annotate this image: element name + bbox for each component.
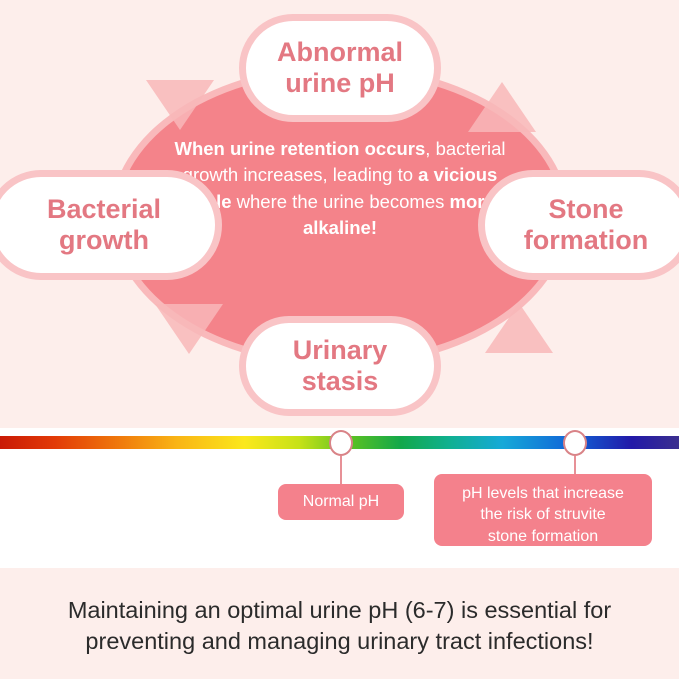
footer-caption-line-1: Maintaining an optimal urine pH (6-7) is…	[22, 595, 657, 626]
cycle-arrow-top-right-icon	[468, 82, 536, 132]
ph-marker-normal[interactable]	[329, 430, 353, 456]
cycle-node-urinary-stasis[interactable]: Urinarystasis	[239, 316, 441, 416]
cycle-node-label: Stoneformation	[524, 194, 649, 256]
ph-label-risk-line-1: pH levels that increase	[434, 483, 652, 504]
footer-band: Maintaining an optimal urine pH (6-7) is…	[0, 568, 679, 679]
cycle-arrow-bottom-left-icon	[155, 304, 223, 354]
ph-label-struvite-risk: pH levels that increase the risk of stru…	[434, 474, 652, 546]
ph-label-risk-line-2: the risk of struvite	[434, 504, 652, 525]
infographic-canvas: When urine retention occurs, bacterial g…	[0, 0, 679, 679]
cycle-node-bacterial-growth[interactable]: Bacterialgrowth	[0, 170, 222, 280]
ph-label-risk-line-3: stone formation	[434, 526, 652, 547]
ph-marker-struvite-risk[interactable]	[563, 430, 587, 456]
ph-label-normal: Normal pH	[278, 484, 404, 520]
cycle-node-label: Bacterialgrowth	[47, 194, 161, 256]
cycle-node-stone-formation[interactable]: Stoneformation	[478, 170, 679, 280]
footer-caption-line-2: preventing and managing urinary tract in…	[22, 626, 657, 657]
cycle-arrow-bottom-right-icon	[485, 303, 553, 353]
cycle-arrow-top-left-icon	[146, 80, 214, 130]
cycle-node-label: Abnormalurine pH	[277, 37, 403, 99]
cycle-diagram: When urine retention occurs, bacterial g…	[0, 0, 679, 428]
cycle-node-label: Urinarystasis	[293, 335, 388, 397]
cycle-node-abnormal-urine-ph[interactable]: Abnormalurine pH	[239, 14, 441, 122]
footer-caption: Maintaining an optimal urine pH (6-7) is…	[22, 595, 657, 658]
